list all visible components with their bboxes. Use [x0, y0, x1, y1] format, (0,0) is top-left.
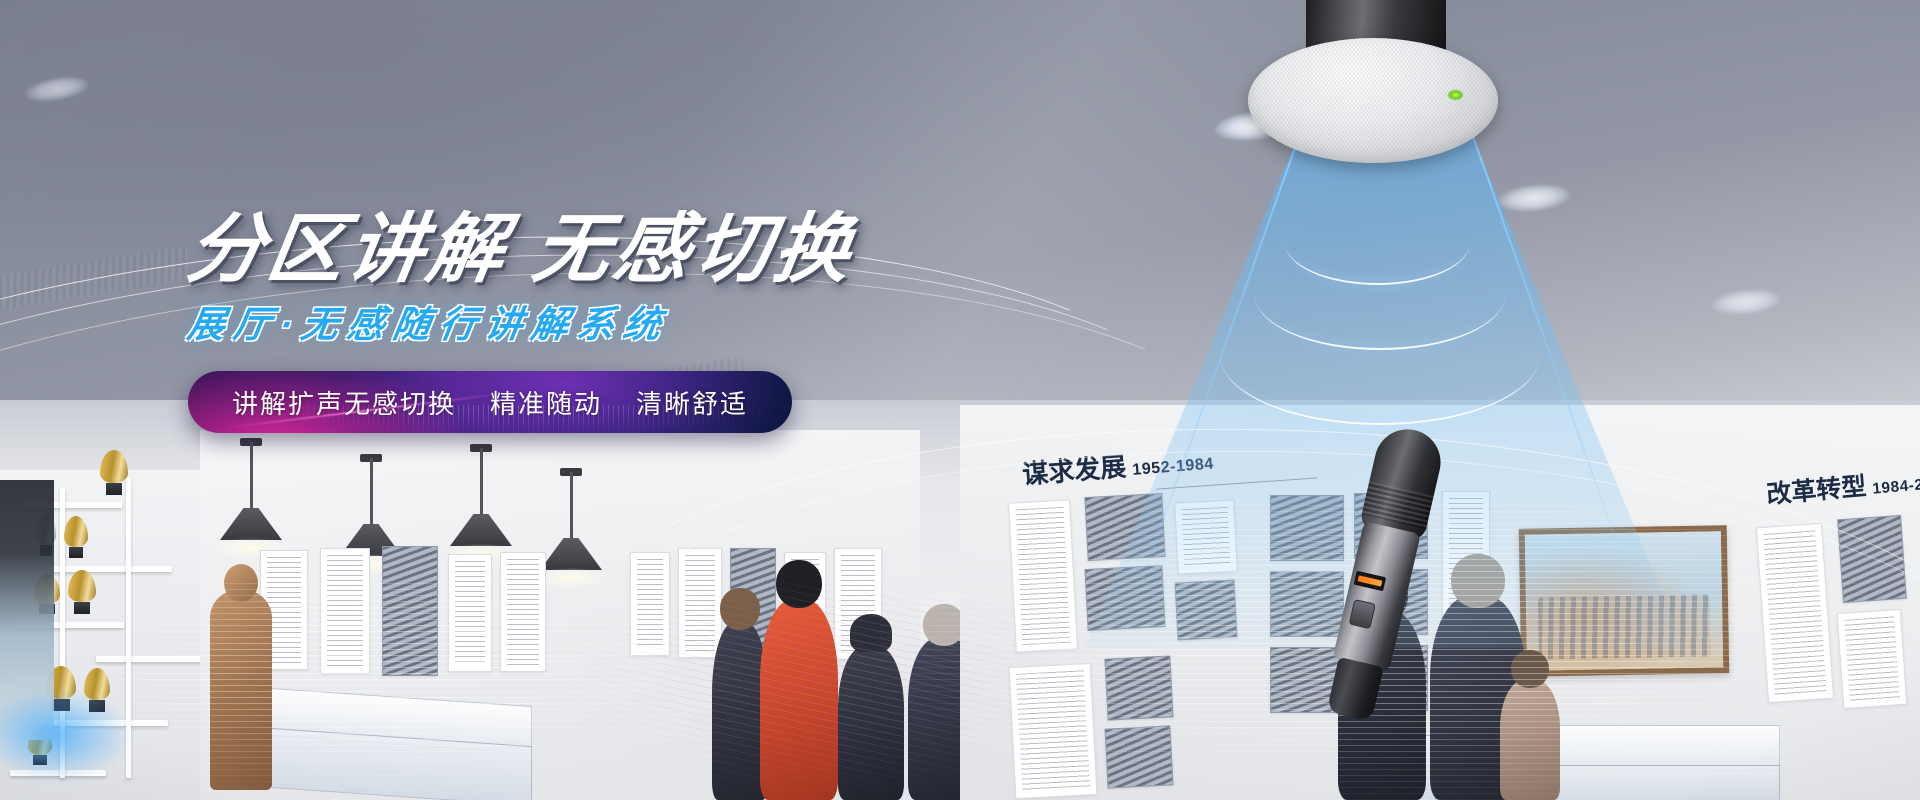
feature-item-2: 精准随动 — [490, 384, 602, 421]
headline-part-1: 分区讲解 — [181, 207, 514, 292]
wall-section-years: 1984-2010 — [1872, 474, 1920, 498]
page-subtitle: 展厅·无感随行讲解系统 — [185, 305, 951, 346]
hero-copy: 分区讲解无感切换 展厅·无感随行讲解系统 讲解扩声无感切换 精准随动 清晰舒适 — [188, 210, 948, 433]
feature-pill: 讲解扩声无感切换 精准随动 清晰舒适 — [188, 371, 792, 433]
speaker-led-indicator — [1448, 90, 1463, 100]
sound-wave-arc-icon — [1220, 285, 1540, 425]
mic-battery-cap — [1326, 657, 1383, 722]
feature-item-3: 清晰舒适 — [636, 384, 748, 421]
speaker-grille — [1248, 38, 1498, 163]
ceiling-speaker — [1248, 0, 1498, 171]
page-title: 分区讲解无感切换 — [182, 210, 955, 291]
mic-body — [1332, 521, 1420, 672]
feature-item-1: 讲解扩声无感切换 — [232, 384, 456, 421]
headline-part-2: 无感切换 — [527, 207, 860, 292]
hero-banner: 谋求发展1952-1984 改革转型1984-2010 — [0, 0, 1920, 800]
decorative-mesh — [560, 560, 1080, 800]
